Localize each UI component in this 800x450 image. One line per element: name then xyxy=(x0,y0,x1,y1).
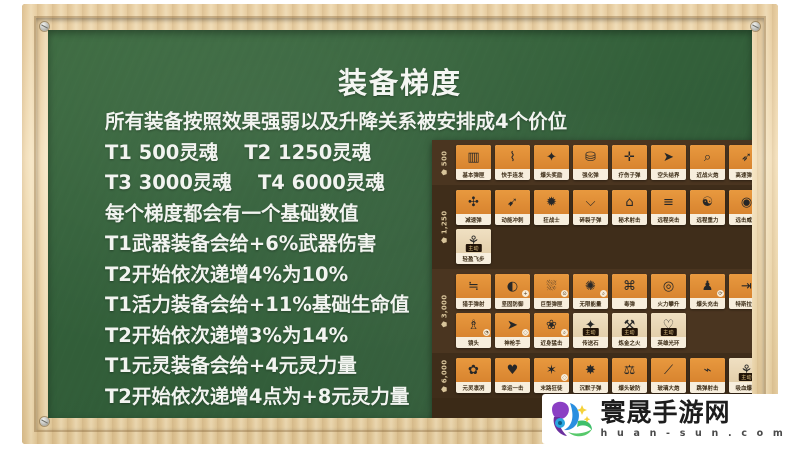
tier-rows-3: ≒猎手弹射◐+坚固防御⛆⊙巨型弹匣✺⌕无限能量⌘毒弹◎火力攀升♟⟳爆头充击⇥特斯… xyxy=(456,274,752,348)
item-card[interactable]: ✦爆头奖励 xyxy=(534,145,569,180)
item-card[interactable]: ⟋玻璃大炮 xyxy=(651,358,686,393)
item-card[interactable]: ⚘主动吸血爆发 xyxy=(729,358,752,393)
item-label: 玻璃大炮 xyxy=(651,382,686,393)
item-icon: ⟋ xyxy=(651,358,686,382)
item-icon: ⚒主动 xyxy=(612,313,647,337)
item-icon: ☯ xyxy=(690,190,725,214)
frame-screw-bottom-left xyxy=(40,417,49,426)
item-card[interactable]: ▥基本弹匣 xyxy=(456,145,491,180)
item-icon: ➶ xyxy=(729,145,752,169)
item-icon: ✦ xyxy=(534,145,569,169)
item-active-badge: 主动 xyxy=(660,328,676,336)
item-icon: ⇥ xyxy=(729,274,752,298)
item-row: ✣减速弹➹动能冲刺✹狂战士⌵碎裂子弹⌂秘术射击≡远程突击☯远程重力◉远击威力◍高… xyxy=(456,190,752,225)
tier-cost-label-4: ⬟ 6,000 xyxy=(432,358,456,393)
item-card[interactable]: ◐+坚固防御 xyxy=(495,274,530,309)
item-icon: ♥ xyxy=(495,358,530,382)
item-label: 秘术射击 xyxy=(612,214,647,225)
item-row: ✿元灵凛冽♥幸运一击✶◌末路狂徒✸沉默子弹⚖爆头破防⟋玻璃大炮⌁跳弹射击⚘主动吸… xyxy=(456,358,752,393)
item-label: 镜头 xyxy=(456,337,491,348)
item-card[interactable]: ✺⌕无限能量 xyxy=(573,274,608,309)
item-icon: ◉ xyxy=(729,190,752,214)
item-label: 英雄光环 xyxy=(651,337,686,348)
item-card[interactable]: ⌕近战火炮 xyxy=(690,145,725,180)
item-card[interactable]: ⌘毒弹 xyxy=(612,274,647,309)
item-label: 基本弹匣 xyxy=(456,169,491,180)
tier-group-1: ⬟ 500▥基本弹匣⌇快手连发✦爆头奖励⛁强化弹✛疗伤子弹➤空头结界⌕近战火炮➶… xyxy=(432,140,752,185)
item-card[interactable]: ≒猎手弹射 xyxy=(456,274,491,309)
tier-rows-4: ✿元灵凛冽♥幸运一击✶◌末路狂徒✸沉默子弹⚖爆头破防⟋玻璃大炮⌁跳弹射击⚘主动吸… xyxy=(456,358,752,393)
tier-group-4: ⬟ 6,000✿元灵凛冽♥幸运一击✶◌末路狂徒✸沉默子弹⚖爆头破防⟋玻璃大炮⌁跳… xyxy=(432,353,752,398)
tier3-cost-text: T3 3000灵魂 xyxy=(105,171,232,194)
chalk-line-1: 所有装备按照效果强弱以及升降关系被安排成4个价位 xyxy=(105,107,752,138)
tier-rows-2: ✣减速弹➹动能冲刺✹狂战士⌵碎裂子弹⌂秘术射击≡远程突击☯远程重力◉远击威力◍高… xyxy=(456,190,752,264)
item-active-badge: 主动 xyxy=(582,328,598,336)
item-card[interactable]: ⌇快手连发 xyxy=(495,145,530,180)
item-icon: ⌁ xyxy=(690,358,725,382)
item-icon: ⛁ xyxy=(573,145,608,169)
item-label: 碎裂子弹 xyxy=(573,214,608,225)
item-card[interactable]: ⚘主动轻盈飞步 xyxy=(456,229,491,264)
item-icon: ⚘主动 xyxy=(729,358,752,382)
item-corner-icon: ◌ xyxy=(522,329,529,336)
item-icon: ✸ xyxy=(573,358,608,382)
item-icon: ⌕ xyxy=(690,145,725,169)
item-corner-icon: ⌕ xyxy=(561,329,568,336)
item-label: 坚固防御 xyxy=(495,298,530,309)
item-active-badge: 主动 xyxy=(621,328,637,336)
item-label: 减速弹 xyxy=(456,214,491,225)
item-icon: ⚘主动 xyxy=(456,229,491,253)
item-corner-icon: ⊙ xyxy=(561,290,568,297)
tier-cost-label-3: ⬟ 3,000 xyxy=(432,274,456,348)
item-icon: ♡主动 xyxy=(651,313,686,337)
item-card[interactable]: ♡主动英雄光环 xyxy=(651,313,686,348)
item-row: ≒猎手弹射◐+坚固防御⛆⊙巨型弹匣✺⌕无限能量⌘毒弹◎火力攀升♟⟳爆头充击⇥特斯… xyxy=(456,274,752,309)
item-card[interactable]: ➤空头结界 xyxy=(651,145,686,180)
item-label: 元灵凛冽 xyxy=(456,382,491,393)
item-label: 巨型弹匣 xyxy=(534,298,569,309)
item-label: 远击威力 xyxy=(729,214,752,225)
item-card[interactable]: ✛疗伤子弹 xyxy=(612,145,647,180)
item-card[interactable]: ♗◔镜头 xyxy=(456,313,491,348)
item-card[interactable]: ✿元灵凛冽 xyxy=(456,358,491,393)
item-icon: ⌂ xyxy=(612,190,647,214)
item-icon: ✛ xyxy=(612,145,647,169)
watermark-site-name: 寰晟手游网 xyxy=(601,400,786,425)
item-row: ⚘主动轻盈飞步 xyxy=(456,229,752,264)
item-label: 传送石 xyxy=(573,337,608,348)
item-label: 神枪手 xyxy=(495,337,530,348)
item-row: ♗◔镜头➤◌神枪手❀⌕近身猛击✦主动传送石⚒主动炼金之火♡主动英雄光环 xyxy=(456,313,752,348)
item-active-badge: 主动 xyxy=(465,244,481,252)
item-label: 空头结界 xyxy=(651,169,686,180)
item-card[interactable]: ⇥特斯拉弹 xyxy=(729,274,752,309)
item-card[interactable]: ➶高速弹匣 xyxy=(729,145,752,180)
tier1-cost-text: T1 500灵魂 xyxy=(105,141,218,164)
item-card[interactable]: ✹狂战士 xyxy=(534,190,569,225)
item-label: 动能冲刺 xyxy=(495,214,530,225)
tier-cost-label-2: ⬟ 1,250 xyxy=(432,190,456,264)
item-icon: ≡ xyxy=(651,190,686,214)
item-icon: ◎ xyxy=(651,274,686,298)
item-icon: ✹ xyxy=(534,190,569,214)
item-label: 跳弹射击 xyxy=(690,382,725,393)
item-card[interactable]: ⚖爆头破防 xyxy=(612,358,647,393)
item-label: 轻盈飞步 xyxy=(456,253,491,264)
watermark-text: 寰晟手游网 h u a n - s u n . c o m xyxy=(601,400,786,439)
item-label: 远程重力 xyxy=(690,214,725,225)
item-label: 爆头奖励 xyxy=(534,169,569,180)
item-row: ▥基本弹匣⌇快手连发✦爆头奖励⛁强化弹✛疗伤子弹➤空头结界⌕近战火炮➶高速弹匣 xyxy=(456,145,752,180)
item-label: 炼金之火 xyxy=(612,337,647,348)
item-label: 疗伤子弹 xyxy=(612,169,647,180)
item-icon: ✿ xyxy=(456,358,491,382)
item-icon: ⌵ xyxy=(573,190,608,214)
item-corner-icon: ◌ xyxy=(561,374,568,381)
item-label: 吸血爆发 xyxy=(729,382,752,393)
item-active-badge: 主动 xyxy=(738,373,752,381)
item-corner-icon: ◔ xyxy=(483,329,490,336)
item-icon: ➤ xyxy=(651,145,686,169)
item-label: 狂战士 xyxy=(534,214,569,225)
item-card[interactable]: ➤◌神枪手 xyxy=(495,313,530,348)
item-label: 火力攀升 xyxy=(651,298,686,309)
item-label: 近身猛击 xyxy=(534,337,569,348)
watermark-domain: h u a n - s u n . c o m xyxy=(601,429,786,439)
item-label: 沉默子弹 xyxy=(573,382,608,393)
item-icon: ▥ xyxy=(456,145,491,169)
tier4-cost-text: T4 6000灵魂 xyxy=(258,171,385,194)
item-card[interactable]: ♟⟳爆头充击 xyxy=(690,274,725,309)
item-card[interactable]: ✣减速弹 xyxy=(456,190,491,225)
screenshot-root: 装备梯度 所有装备按照效果强弱以及升降关系被安排成4个价位 T1 500灵魂T2… xyxy=(0,0,800,450)
item-label: 幸运一击 xyxy=(495,382,530,393)
item-corner-icon: ⟳ xyxy=(717,290,724,297)
item-icon: ≒ xyxy=(456,274,491,298)
page-title: 装备梯度 xyxy=(48,60,752,102)
tier-cost-label-1: ⬟ 500 xyxy=(432,145,456,180)
item-card[interactable]: ✦主动传送石 xyxy=(573,313,608,348)
item-card[interactable]: ⛁强化弹 xyxy=(573,145,608,180)
item-label: 特斯拉弹 xyxy=(729,298,752,309)
item-card[interactable]: ✶◌末路狂徒 xyxy=(534,358,569,393)
item-card[interactable]: ✸沉默子弹 xyxy=(573,358,608,393)
item-card[interactable]: ⛆⊙巨型弹匣 xyxy=(534,274,569,309)
item-icon: ⚖ xyxy=(612,358,647,382)
item-label: 强化弹 xyxy=(573,169,608,180)
item-label: 近战火炮 xyxy=(690,169,725,180)
item-card[interactable]: ♥幸运一击 xyxy=(495,358,530,393)
chalkboard-surface: 装备梯度 所有装备按照效果强弱以及升降关系被安排成4个价位 T1 500灵魂T2… xyxy=(48,30,752,418)
game-item-tier-panel: ⬟ 500▥基本弹匣⌇快手连发✦爆头奖励⛁强化弹✛疗伤子弹➤空头结界⌕近战火炮➶… xyxy=(432,140,752,418)
item-label: 爆头破防 xyxy=(612,382,647,393)
tier-rows-1: ▥基本弹匣⌇快手连发✦爆头奖励⛁强化弹✛疗伤子弹➤空头结界⌕近战火炮➶高速弹匣 xyxy=(456,145,752,180)
item-icon: ➹ xyxy=(495,190,530,214)
item-label: 毒弹 xyxy=(612,298,647,309)
item-label: 快手连发 xyxy=(495,169,530,180)
tier-group-3: ⬟ 3,000≒猎手弹射◐+坚固防御⛆⊙巨型弹匣✺⌕无限能量⌘毒弹◎火力攀升♟⟳… xyxy=(432,269,752,353)
item-label: 无限能量 xyxy=(573,298,608,309)
item-card[interactable]: ◎火力攀升 xyxy=(651,274,686,309)
item-icon: ⌘ xyxy=(612,274,647,298)
tier2-cost-text: T2 1250灵魂 xyxy=(244,141,371,164)
item-card[interactable]: ☯远程重力 xyxy=(690,190,725,225)
item-card[interactable]: ⌂秘术射击 xyxy=(612,190,647,225)
item-label: 末路狂徒 xyxy=(534,382,569,393)
item-icon: ✣ xyxy=(456,190,491,214)
item-card[interactable]: ≡远程突击 xyxy=(651,190,686,225)
item-card[interactable]: ➹动能冲刺 xyxy=(495,190,530,225)
item-corner-icon: ⌕ xyxy=(600,290,607,297)
item-card[interactable]: ⌁跳弹射击 xyxy=(690,358,725,393)
item-card[interactable]: ⌵碎裂子弹 xyxy=(573,190,608,225)
item-icon: ✦主动 xyxy=(573,313,608,337)
item-label: 猎手弹射 xyxy=(456,298,491,309)
item-icon: ⌇ xyxy=(495,145,530,169)
tier-group-2: ⬟ 1,250✣减速弹➹动能冲刺✹狂战士⌵碎裂子弹⌂秘术射击≡远程突击☯远程重力… xyxy=(432,185,752,269)
item-label: 高速弹匣 xyxy=(729,169,752,180)
item-label: 爆头充击 xyxy=(690,298,725,309)
watermark-logo-icon xyxy=(548,399,594,439)
item-card[interactable]: ❀⌕近身猛击 xyxy=(534,313,569,348)
item-card[interactable]: ⚒主动炼金之火 xyxy=(612,313,647,348)
item-label: 远程突击 xyxy=(651,214,686,225)
item-card[interactable]: ◉远击威力 xyxy=(729,190,752,225)
site-watermark: 寰晟手游网 h u a n - s u n . c o m xyxy=(542,394,794,444)
item-corner-icon: + xyxy=(522,290,529,297)
frame-screw-top-right xyxy=(751,22,760,31)
